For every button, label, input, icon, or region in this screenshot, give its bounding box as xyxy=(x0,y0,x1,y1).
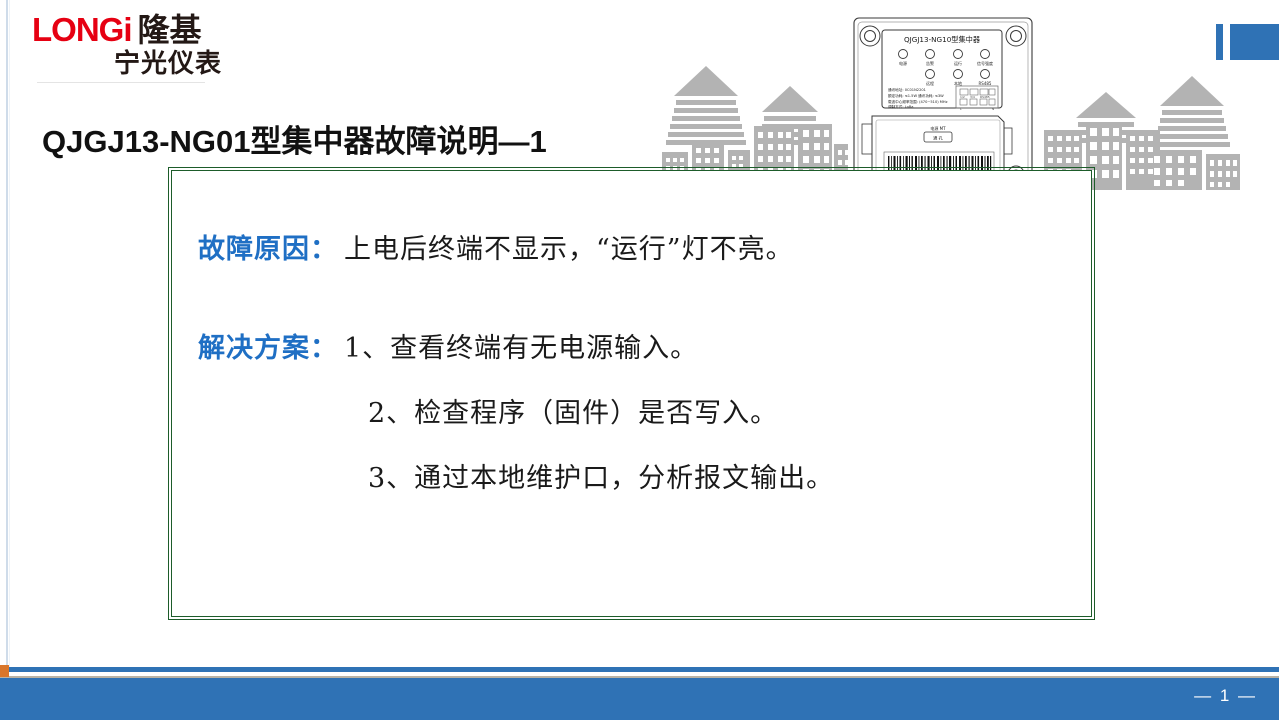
solution-label: 解决方案： xyxy=(198,326,338,365)
svg-text:告警: 告警 xyxy=(926,60,934,66)
svg-text:本地: 本地 xyxy=(954,80,962,86)
corner-mark-block xyxy=(1230,24,1279,60)
svg-text:RS485: RS485 xyxy=(979,81,992,86)
svg-text:RS485: RS485 xyxy=(980,95,990,99)
svg-text:调制方式: LoRa: 调制方式: LoRa xyxy=(888,104,914,109)
svg-text:运行: 运行 xyxy=(954,60,962,66)
logo-subbrand-cn: 宁光仪表 xyxy=(114,48,222,78)
svg-text:3/4: 3/4 xyxy=(970,95,975,99)
logo-primary-row: LONGi 隆基 xyxy=(32,10,232,50)
left-accent-rule xyxy=(6,0,8,667)
longi-logo: LONGi 隆基 宁光仪表 xyxy=(32,10,232,92)
svg-text:通讯地址: 0C01N2201: 通讯地址: 0C01N2201 xyxy=(888,87,926,92)
device-model-label: QJGJ13-NG10型集中器 xyxy=(904,35,980,44)
logo-wordmark: LONGi xyxy=(32,10,132,50)
svg-text:电源 MT: 电源 MT xyxy=(930,125,946,131)
content-body: 故障原因： 上电后终端不显示，“运行”灯不亮。 解决方案： 1、查看终端有无电源… xyxy=(190,227,1081,495)
svg-text:信号强度: 信号强度 xyxy=(977,60,993,66)
logo-brand-cn: 隆基 xyxy=(138,10,202,50)
svg-text:远程: 远程 xyxy=(926,80,934,86)
slide-canvas: LONGi 隆基 宁光仪表 QJGJ13-NG01型集中器故障说明—1 xyxy=(0,0,1279,720)
fault-cause-row: 故障原因： 上电后终端不显示，“运行”灯不亮。 xyxy=(198,227,1081,266)
svg-text:电源: 电源 xyxy=(899,60,907,66)
footer-band xyxy=(0,678,1279,720)
svg-text:额定功耗: ≤1.5W 通讯功耗: ≤3W: 额定功耗: ≤1.5W 通讯功耗: ≤3W xyxy=(888,93,944,98)
logo-underline xyxy=(37,82,205,83)
corner-mark-bar xyxy=(1216,24,1223,60)
svg-text:通 孔: 通 孔 xyxy=(933,135,944,142)
page-title: QJGJ13-NG01型集中器故障说明—1 xyxy=(42,116,547,161)
fault-cause-text: 上电后终端不显示，“运行”灯不亮。 xyxy=(344,227,794,266)
solution-row: 解决方案： 1、查看终端有无电源输入。 xyxy=(198,326,1081,365)
svg-text:N: N xyxy=(992,107,994,111)
svg-text:1/2: 1/2 xyxy=(960,95,965,99)
footer-orange-accent xyxy=(0,665,9,677)
svg-text:载波中心频率范围: (470~510) MHz: 载波中心频率范围: (470~510) MHz xyxy=(888,99,948,104)
left-accent-rule-inner xyxy=(9,0,10,667)
solution-item-1: 1、查看终端有无电源输入。 xyxy=(344,326,698,365)
solution-item-2: 2、检查程序（固件）是否写入。 xyxy=(368,391,1081,430)
content-panel: 故障原因： 上电后终端不显示，“运行”灯不亮。 解决方案： 1、查看终端有无电源… xyxy=(171,170,1092,617)
solution-item-3: 3、通过本地维护口，分析报文输出。 xyxy=(368,456,1081,495)
page-number: — 1 — xyxy=(1194,686,1257,706)
fault-cause-label: 故障原因： xyxy=(198,227,338,266)
logo-secondary-row: 宁光仪表 xyxy=(32,48,222,78)
